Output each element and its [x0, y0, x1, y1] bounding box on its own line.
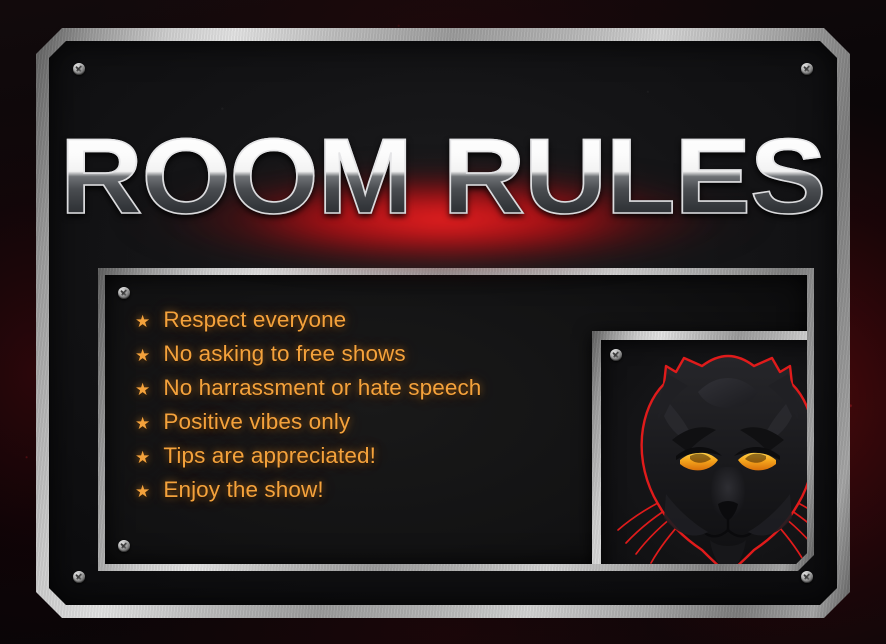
star-bullet-icon: ★: [135, 449, 150, 466]
screw-icon: [801, 571, 813, 583]
star-bullet-icon: ★: [135, 313, 150, 330]
screw-icon: [118, 287, 130, 299]
list-item: ★ Positive vibes only: [135, 409, 481, 435]
star-bullet-icon: ★: [135, 415, 150, 432]
star-bullet-icon: ★: [135, 347, 150, 364]
room-rules-banner: ROOM RULES ★ Respect everyone ★: [0, 0, 886, 644]
list-item: ★ Tips are appreciated!: [135, 443, 481, 469]
outer-metal-plaque: ROOM RULES ★ Respect everyone ★: [36, 28, 850, 618]
screw-icon: [73, 63, 85, 75]
star-bullet-icon: ★: [135, 381, 150, 398]
rules-panel-face: ★ Respect everyone ★ No asking to free s…: [105, 275, 807, 564]
screw-icon: [801, 63, 813, 75]
mascot-plaque-face: [601, 340, 807, 564]
screw-icon: [73, 571, 85, 583]
black-panther-head-icon: [606, 344, 807, 565]
page-title: ROOM RULES: [60, 125, 825, 228]
list-item: ★ Respect everyone: [135, 307, 481, 333]
rule-text: Positive vibes only: [163, 409, 350, 435]
list-item: ★ No harrassment or hate speech: [135, 375, 481, 401]
plaque-dark-face: ROOM RULES ★ Respect everyone ★: [49, 41, 837, 605]
rule-text: No harrassment or hate speech: [163, 375, 481, 401]
screw-icon: [610, 349, 622, 361]
rules-list: ★ Respect everyone ★ No asking to free s…: [135, 307, 481, 511]
rule-text: Enjoy the show!: [163, 477, 323, 503]
rule-text: Tips are appreciated!: [163, 443, 376, 469]
rules-panel-frame: ★ Respect everyone ★ No asking to free s…: [98, 268, 814, 571]
star-bullet-icon: ★: [135, 483, 150, 500]
screw-icon: [118, 540, 130, 552]
list-item: ★ No asking to free shows: [135, 341, 481, 367]
rule-text: No asking to free shows: [163, 341, 405, 367]
list-item: ★ Enjoy the show!: [135, 477, 481, 503]
rule-text: Respect everyone: [163, 307, 346, 333]
mascot-plaque-frame: [592, 331, 807, 564]
title-block: ROOM RULES: [49, 125, 837, 228]
